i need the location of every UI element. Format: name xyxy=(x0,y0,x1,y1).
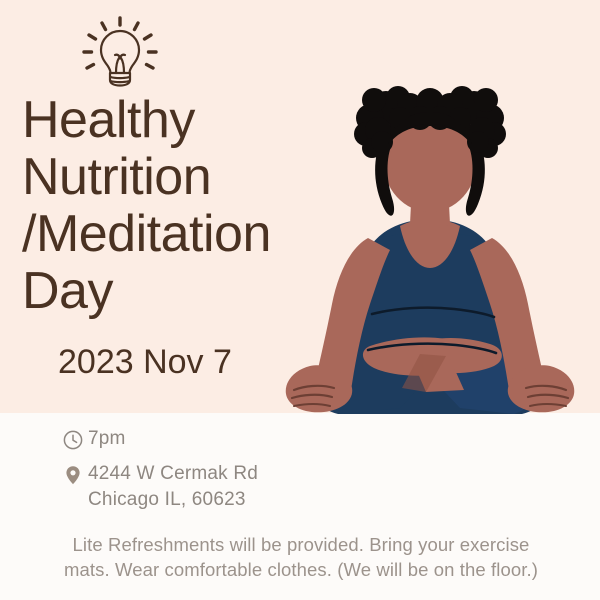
event-time: 7pm xyxy=(88,426,126,452)
clock-icon xyxy=(62,427,88,453)
address-line-1: 4244 W Cermak Rd xyxy=(88,463,258,484)
headline-line-1: Healthy xyxy=(22,92,402,149)
event-address: 4244 W Cermak RdChicago IL, 60623 xyxy=(88,461,258,513)
lightbulb-icon xyxy=(78,14,162,90)
headline-line-2: Nutrition xyxy=(22,149,402,206)
event-footnote: Lite Refreshments will be provided. Brin… xyxy=(62,532,540,582)
page-title: Healthy Nutrition /Meditation Day xyxy=(22,92,402,320)
address-line-2: Chicago IL, 60623 xyxy=(88,489,246,510)
headline-line-4: Day xyxy=(22,263,402,320)
event-time-row: 7pm xyxy=(62,426,392,453)
headline-line-3: /Meditation xyxy=(22,206,402,263)
event-location-row: 4244 W Cermak RdChicago IL, 60623 xyxy=(62,461,392,513)
event-poster: Healthy Nutrition /Meditation Day 2023 N… xyxy=(0,0,600,600)
location-pin-icon xyxy=(62,462,88,488)
event-details: 7pm 4244 W Cermak RdChicago IL, 60623 xyxy=(62,426,392,521)
event-date: 2023 Nov 7 xyxy=(58,342,232,382)
